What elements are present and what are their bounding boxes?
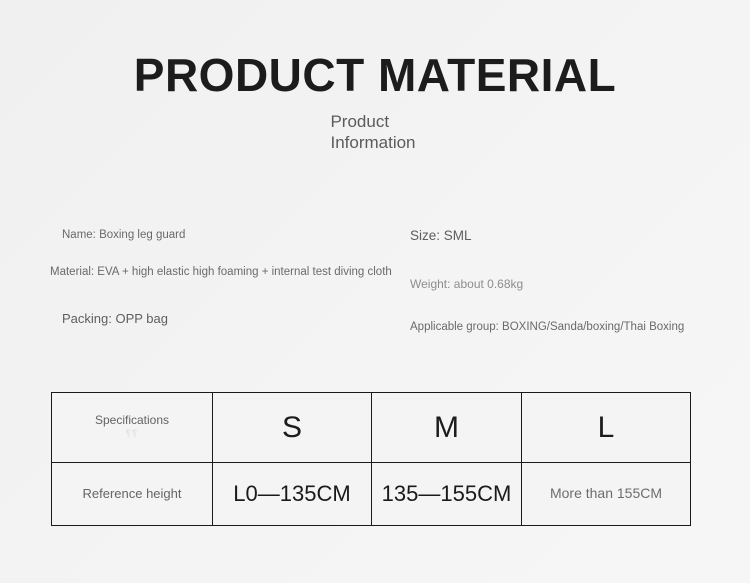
spec-product-name: Name: Boxing leg guard (62, 228, 400, 242)
spec-size: Size: SML (410, 228, 720, 245)
subtitle-line-2: Information (330, 133, 415, 154)
page-title: PRODUCT MATERIAL (0, 52, 750, 98)
cell-size-l: L (522, 393, 691, 463)
specs-left-column: Name: Boxing leg guard Material: EVA + h… (50, 228, 400, 327)
specifications-section: Name: Boxing leg guard Material: EVA + h… (0, 228, 750, 348)
spec-packing: Packing: OPP bag (62, 311, 400, 327)
size-letter-m: M (434, 411, 459, 444)
cell-reference-height-label: Reference height (52, 463, 213, 526)
cell-height-s: L0—135CM (213, 463, 372, 526)
reference-height-text: Reference height (82, 486, 181, 501)
specifications-artifact-mark: ⸮⸮ (95, 429, 169, 439)
height-range-l: More than 155CM (550, 485, 662, 501)
height-range-s: L0—135CM (233, 481, 350, 506)
table-row: Specifications ⸮⸮ S M L (52, 393, 691, 463)
spec-applicable-group: Applicable group: BOXING/Sanda/boxing/Th… (410, 320, 720, 334)
size-table: Specifications ⸮⸮ S M L Reference height (51, 392, 691, 526)
size-letter-l: L (598, 411, 615, 444)
product-material-page: PRODUCT MATERIAL Product Information Nam… (0, 0, 750, 583)
cell-height-l: More than 155CM (522, 463, 691, 526)
cell-size-s: S (213, 393, 372, 463)
cell-size-m: M (372, 393, 522, 463)
spec-weight: Weight: about 0.68kg (410, 277, 720, 292)
size-letter-s: S (282, 411, 302, 444)
subtitle: Product Information (0, 112, 750, 153)
specifications-text: Specifications (95, 413, 169, 427)
cell-specifications-label: Specifications ⸮⸮ (52, 393, 213, 463)
table-row: Reference height L0—135CM 135—155CM More… (52, 463, 691, 526)
spec-material: Material: EVA + high elastic high foamin… (50, 265, 400, 279)
subtitle-line-1: Product (330, 112, 415, 133)
specs-right-column: Size: SML Weight: about 0.68kg Applicabl… (410, 228, 720, 334)
header: PRODUCT MATERIAL Product Information (0, 52, 750, 153)
height-range-m: 135—155CM (382, 481, 512, 506)
cell-height-m: 135—155CM (372, 463, 522, 526)
